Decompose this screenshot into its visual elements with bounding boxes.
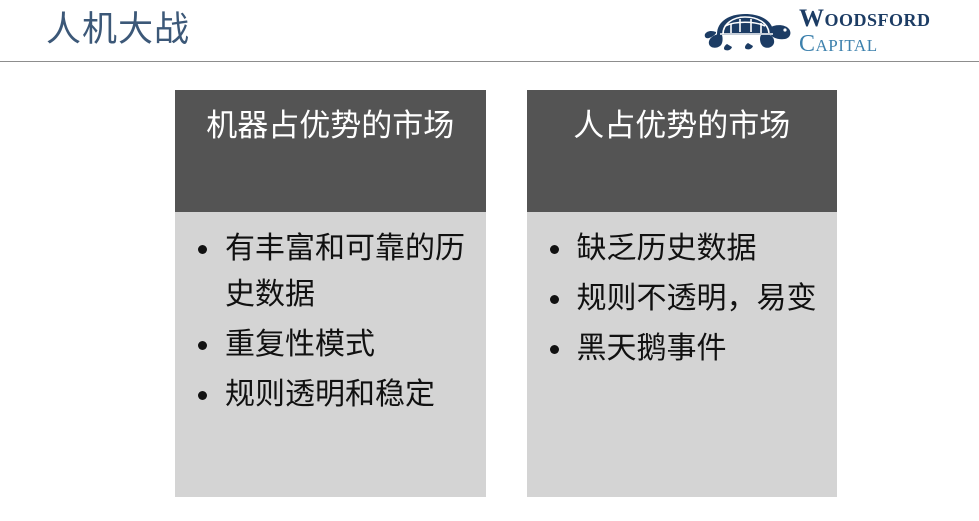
slide-header: 人机大战 — [0, 0, 979, 62]
column-header-machine: 机器占优势的市场 — [175, 90, 486, 212]
column-machine-advantage: 机器占优势的市场 有丰富和可靠的历史数据 重复性模式 规则透明和稳定 — [175, 90, 486, 497]
list-item: 重复性模式 — [189, 322, 472, 368]
list-item: 黑天鹅事件 — [541, 326, 824, 372]
column-header-human: 人占优势的市场 — [527, 90, 838, 212]
bullet-list-machine: 有丰富和可靠的历史数据 重复性模式 规则透明和稳定 — [189, 226, 472, 418]
logo-line-capital: Capital — [799, 32, 931, 56]
slide: 人机大战 — [0, 0, 979, 521]
list-item: 规则不透明，易变 — [541, 276, 824, 322]
list-item-label: 规则透明和稳定 — [225, 378, 435, 411]
comparison-table: 机器占优势的市场 有丰富和可靠的历史数据 重复性模式 规则透明和稳定 — [175, 90, 837, 497]
list-item: 有丰富和可靠的历史数据 — [189, 226, 472, 318]
bullet-dot-icon — [198, 341, 207, 350]
logo-wordmark: Woodsford Capital — [799, 6, 931, 56]
column-human-advantage: 人占优势的市场 缺乏历史数据 规则不透明，易变 黑天鹅事件 — [527, 90, 838, 497]
bullet-dot-icon — [550, 295, 559, 304]
header-divider — [0, 61, 979, 62]
list-item-label: 规则不透明，易变 — [577, 282, 817, 315]
column-body-machine: 有丰富和可靠的历史数据 重复性模式 规则透明和稳定 — [175, 212, 486, 497]
page-title: 人机大战 — [46, 8, 190, 52]
bullet-dot-icon — [550, 245, 559, 254]
bullet-dot-icon — [198, 391, 207, 400]
brand-logo: Woodsford Capital — [703, 5, 971, 57]
list-item-label: 有丰富和可靠的历史数据 — [225, 232, 465, 311]
list-item-label: 黑天鹅事件 — [577, 332, 727, 365]
bullet-list-human: 缺乏历史数据 规则不透明，易变 黑天鹅事件 — [541, 226, 824, 372]
list-item-label: 缺乏历史数据 — [577, 232, 757, 265]
list-item-label: 重复性模式 — [225, 328, 375, 361]
logo-line-woodsford: Woodsford — [799, 6, 931, 31]
list-item: 规则透明和稳定 — [189, 372, 472, 418]
turtle-icon — [703, 8, 795, 54]
column-body-human: 缺乏历史数据 规则不透明，易变 黑天鹅事件 — [527, 212, 838, 497]
bullet-dot-icon — [198, 245, 207, 254]
list-item: 缺乏历史数据 — [541, 226, 824, 272]
bullet-dot-icon — [550, 345, 559, 354]
